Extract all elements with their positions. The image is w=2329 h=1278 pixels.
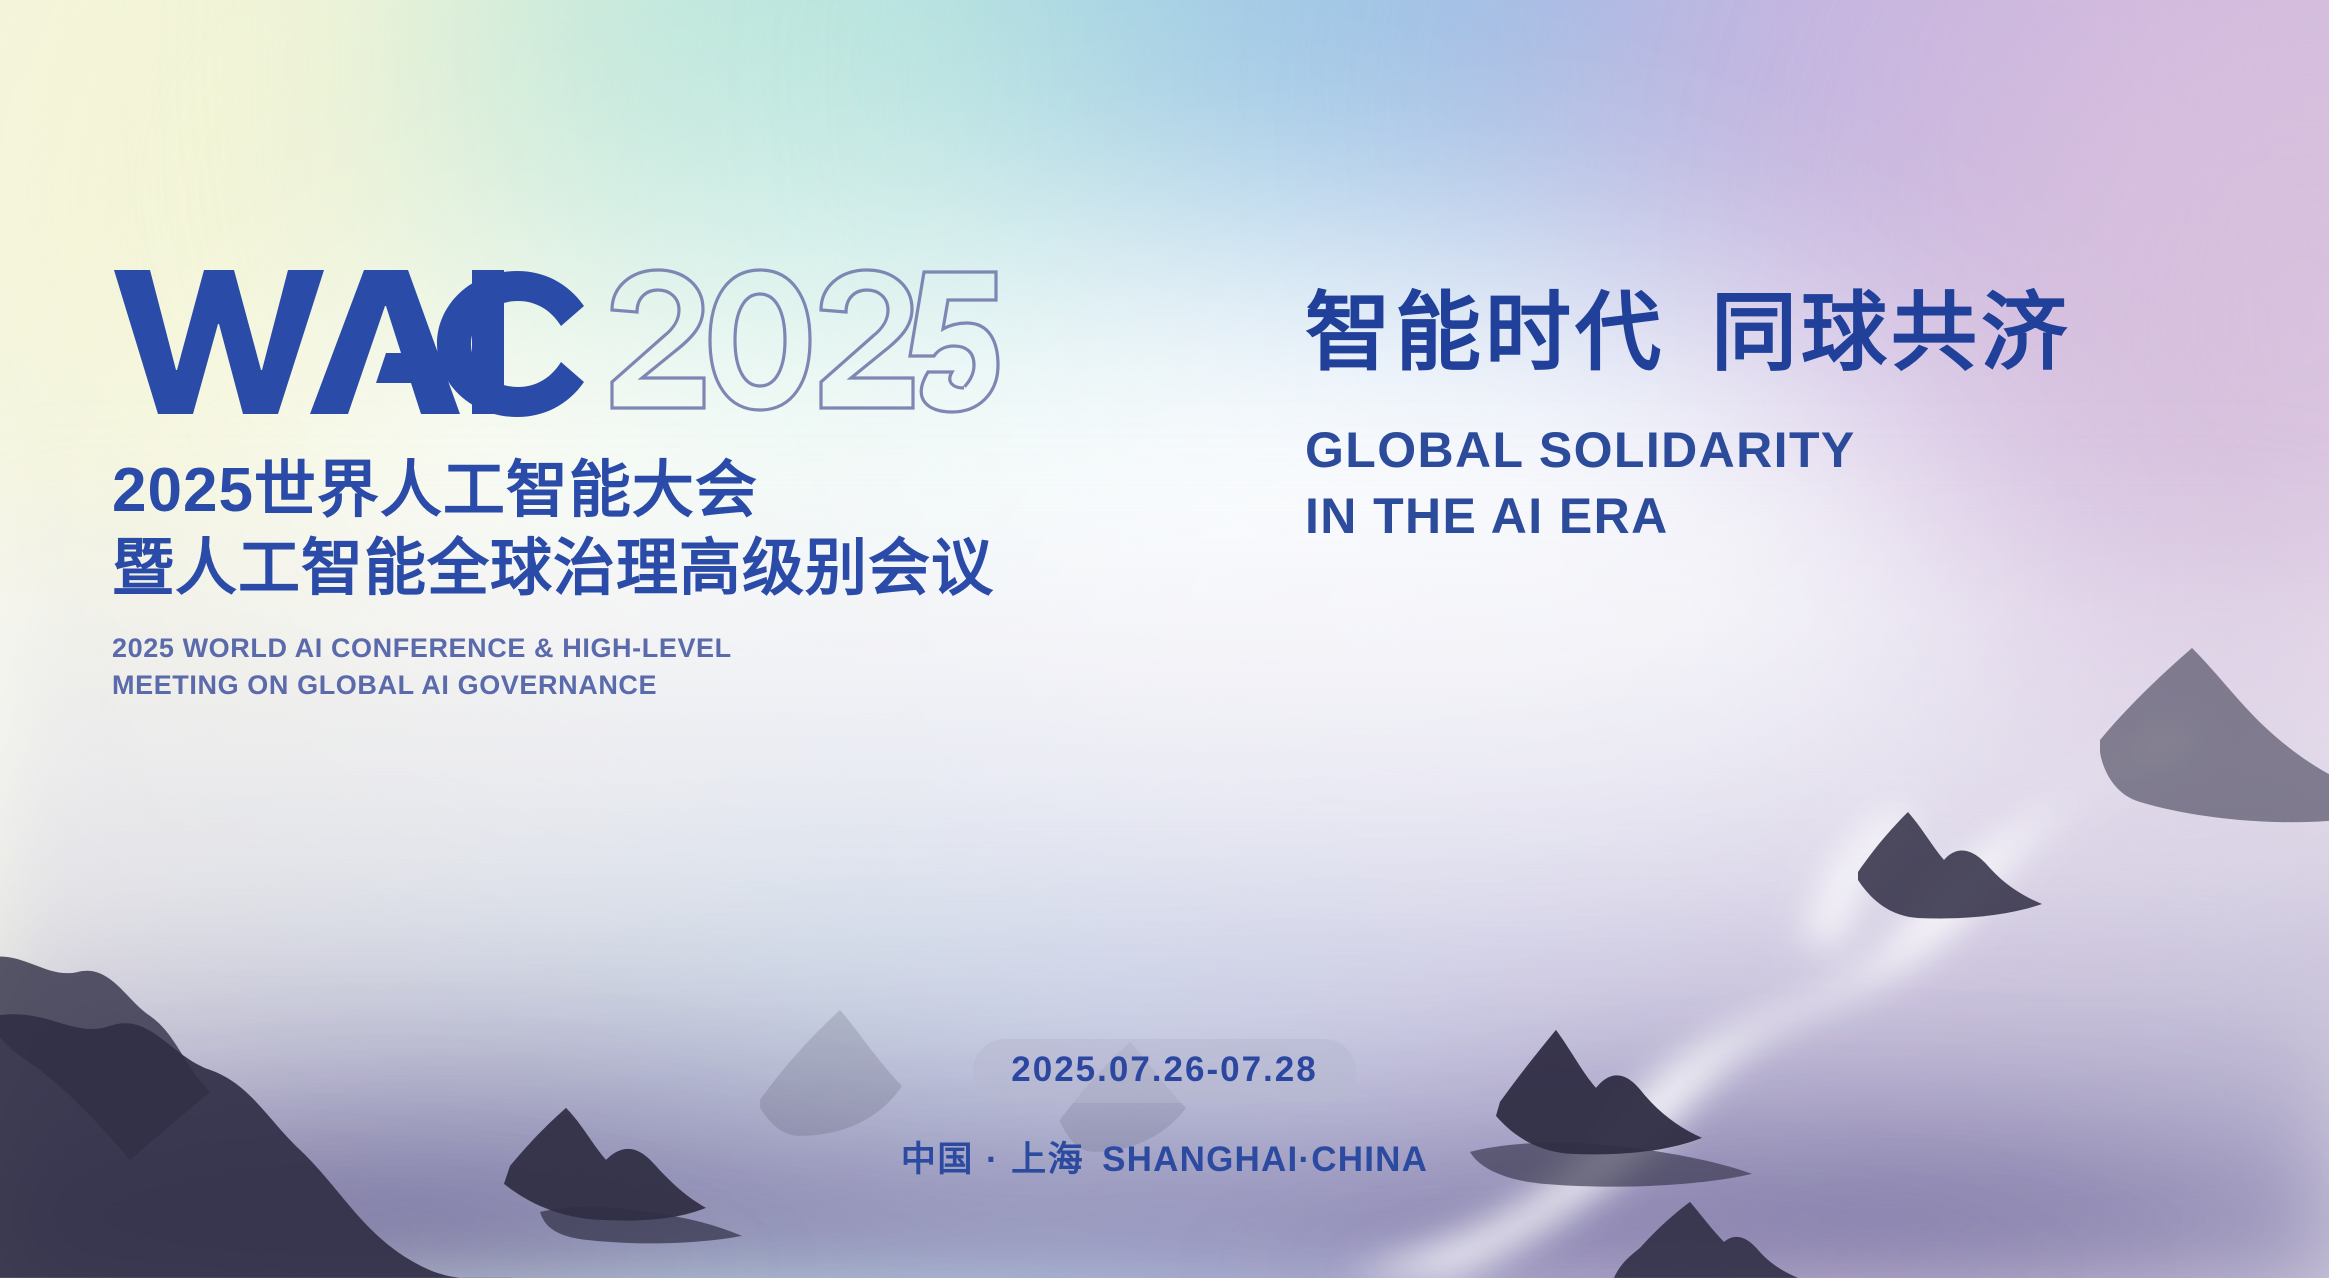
conference-title-cn: 2025世界人工智能大会暨人工智能全球治理高级别会议 bbox=[112, 452, 1000, 608]
conference-title-cn-line2: 暨人工智能全球治理高级别会议 bbox=[112, 534, 994, 603]
wordmark-row bbox=[112, 266, 1000, 418]
date-range-badge: 2025.07.26-07.28 bbox=[973, 1039, 1355, 1103]
waic-wordmark bbox=[112, 266, 584, 418]
waic-logo-block: 2025世界人工智能大会暨人工智能全球治理高级别会议 2025 WORLD AI… bbox=[112, 266, 1000, 705]
slogan-en-line2: IN THE AI ERA bbox=[1305, 488, 1669, 544]
slogan-block: 智能时代同球共济 GLOBAL SOLIDARITYIN THE AI ERA bbox=[1305, 286, 2071, 549]
conference-title-cn-line1: 2025世界人工智能大会 bbox=[112, 456, 758, 525]
venue-line: 中国·上海SHANGHAI·CHINA bbox=[0, 1131, 2329, 1182]
venue-en: SHANGHAI·CHINA bbox=[1102, 1140, 1428, 1179]
year-outline-2025 bbox=[608, 266, 1000, 416]
venue-city-cn: 上海 bbox=[1011, 1140, 1084, 1179]
slogan-cn-part2: 同球共济 bbox=[1711, 285, 2071, 381]
slogan-en-line1: GLOBAL SOLIDARITY bbox=[1305, 422, 1856, 478]
slogan-cn-part1: 智能时代 bbox=[1305, 285, 1665, 381]
slogan-en: GLOBAL SOLIDARITYIN THE AI ERA bbox=[1305, 417, 2071, 549]
conference-title-en: 2025 WORLD AI CONFERENCE & HIGH-LEVELMEE… bbox=[112, 630, 1000, 705]
venue-country-cn: 中国 bbox=[901, 1140, 974, 1179]
waic-conference-key-visual: 2025世界人工智能大会暨人工智能全球治理高级别会议 2025 WORLD AI… bbox=[0, 0, 2329, 1278]
footer-block: 2025.07.26-07.28 中国·上海SHANGHAI·CHINA bbox=[0, 1039, 2329, 1182]
slogan-cn: 智能时代同球共济 bbox=[1305, 286, 2071, 381]
venue-separator: · bbox=[986, 1140, 999, 1179]
conference-title-en-line1: 2025 WORLD AI CONFERENCE & HIGH-LEVEL bbox=[112, 633, 732, 663]
conference-title-en-line2: MEETING ON GLOBAL AI GOVERNANCE bbox=[112, 670, 657, 700]
